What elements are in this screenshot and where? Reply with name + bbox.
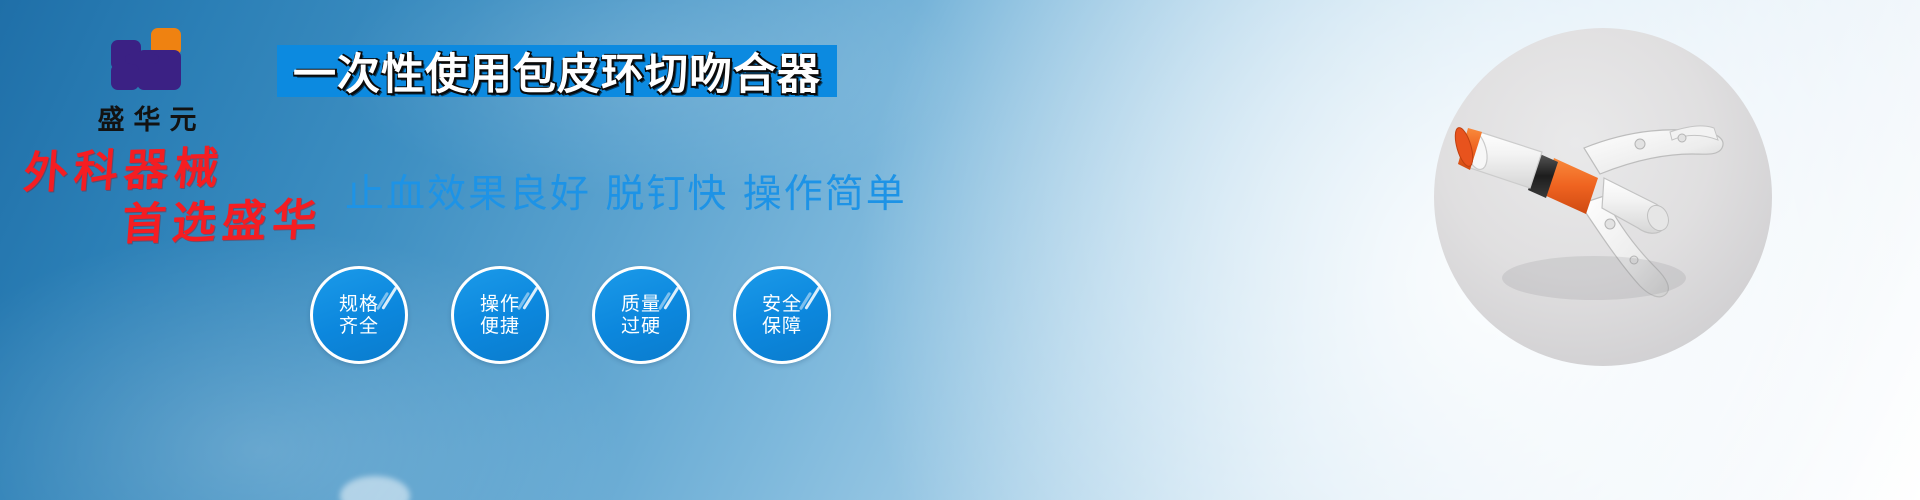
feature-circle-operation[interactable]: 操作 便捷: [451, 266, 549, 364]
feature-circle-specifications[interactable]: 规格 齐全: [310, 266, 408, 364]
lower-arm-pivot: [1605, 219, 1615, 229]
calligraphy-line-1: 外科器械: [0, 143, 362, 196]
feature-label-line1: 规格: [339, 293, 379, 315]
product-device-illustration: [1434, 28, 1772, 366]
promo-banner: 盛华元 外科器械 首选盛华 一次性使用包皮环切吻合器 止血效果良好 脱钉快 操作…: [0, 0, 1920, 500]
feature-label-line2: 便捷: [480, 315, 520, 337]
logo-square-lower-left: [111, 64, 139, 90]
device-shadow: [1502, 256, 1686, 300]
main-title-bar: 一次性使用包皮环切吻合器: [277, 45, 837, 97]
feature-label-line1: 安全: [762, 293, 802, 315]
product-disc-background: [1434, 28, 1772, 366]
feature-label-line2: 保障: [762, 315, 802, 337]
upper-arm-pivot: [1635, 139, 1645, 149]
feature-circle-quality[interactable]: 质量 过硬: [592, 266, 690, 364]
calligraphy-slogan: 外科器械 首选盛华: [0, 148, 360, 246]
feature-circle-safety[interactable]: 安全 保障: [733, 266, 831, 364]
logo-mark-icon: [111, 28, 183, 90]
main-title: 一次性使用包皮环切吻合器: [293, 40, 821, 102]
upper-arm-pivot-2: [1678, 134, 1686, 142]
bottom-watermark: [340, 476, 410, 500]
brand-logo: 盛华元: [62, 28, 232, 137]
calligraphy-line-2: 首选盛华: [0, 197, 362, 250]
feature-circle-list: 规格 齐全 操作 便捷 质量 过硬 安全 保障: [310, 266, 831, 364]
logo-connector-bar: [125, 54, 159, 64]
brand-name: 盛华元: [62, 98, 232, 137]
feature-label-line1: 操作: [480, 293, 520, 315]
feature-label-line1: 质量: [621, 293, 661, 315]
subtitle: 止血效果良好 脱钉快 操作简单: [345, 163, 907, 219]
feature-label-line2: 齐全: [339, 315, 379, 337]
feature-label-line2: 过硬: [621, 315, 661, 337]
product-image: [1434, 28, 1772, 366]
